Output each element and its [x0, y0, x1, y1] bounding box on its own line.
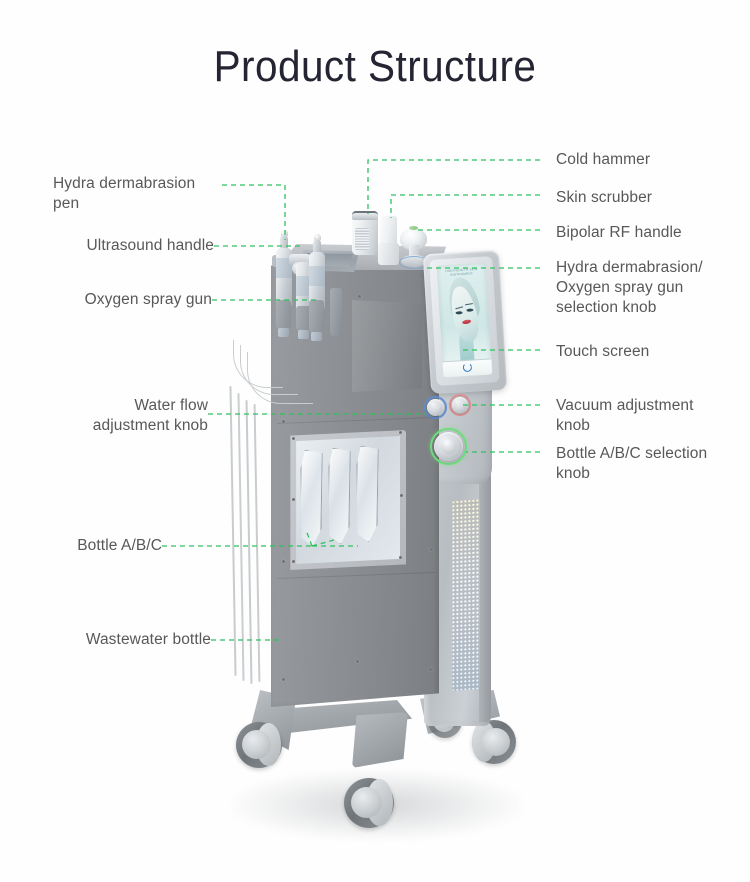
- body-recess: [352, 300, 422, 392]
- bottle-b: [327, 448, 351, 544]
- label-water-flow-adjustment-knob: Water flow adjustment knob: [0, 396, 208, 436]
- label-vacuum-adjustment-knob: Vacuum adjustment knob: [556, 396, 750, 436]
- label-bottle-abc: Bottle A/B/C: [0, 536, 162, 556]
- machine-illustration: HIGHTENGTH SKIN INSTRUMENT: [0, 0, 750, 882]
- label-skin-scrubber: Skin scrubber: [556, 188, 746, 208]
- bottle-c: [355, 446, 379, 542]
- caster-front-center: [344, 778, 394, 828]
- label-ultrasound-handle: Ultrasound handle: [0, 236, 214, 256]
- bottle-a: [299, 450, 323, 546]
- handpiece-side-bracket: [330, 288, 342, 336]
- label-hydra-dermabrasion-pen: Hydra dermabrasion pen: [0, 174, 222, 214]
- label-oxygen-spray-gun: Oxygen spray gun: [0, 290, 212, 310]
- bottle-window-glass: [294, 436, 400, 564]
- home-circle-icon[interactable]: [463, 363, 473, 373]
- label-cold-hammer: Cold hammer: [556, 150, 746, 170]
- product-structure-diagram: Product Structure: [0, 0, 750, 882]
- touch-screen[interactable]: HIGHTENGTH SKIN INSTRUMENT: [437, 263, 493, 378]
- label-wastewater-bottle: Wastewater bottle: [0, 630, 211, 650]
- label-hydra-oxygen-selection-knob: Hydra dermabrasion/ Oxygen spray gun sel…: [556, 258, 750, 318]
- label-touch-screen: Touch screen: [556, 342, 746, 362]
- label-bipolar-rf-handle: Bipolar RF handle: [556, 223, 746, 243]
- caster-front-left: [236, 722, 282, 768]
- perforated-vent-overlay: [452, 499, 480, 691]
- caster-rear-right: [472, 720, 516, 764]
- label-bottle-abc-selection-knob: Bottle A/B/C selection knob: [556, 444, 750, 484]
- bottle-knob-center: [441, 438, 457, 454]
- screen-bottom-bar: [442, 358, 492, 377]
